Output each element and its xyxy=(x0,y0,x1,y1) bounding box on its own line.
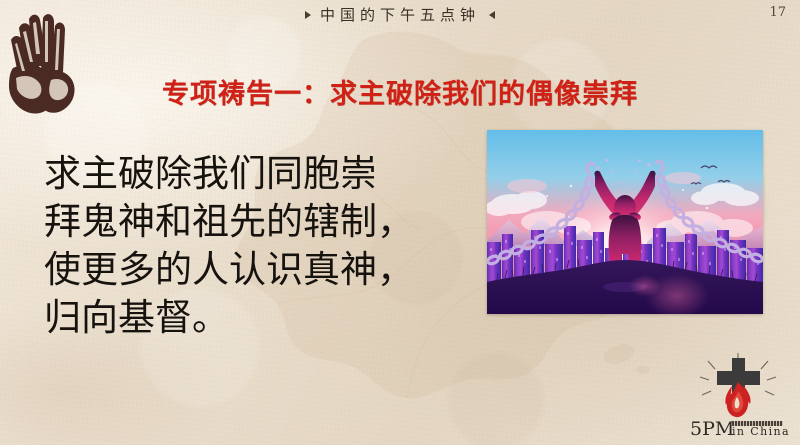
triangle-right-marker-icon xyxy=(305,11,311,19)
body-line: 拜鬼神和祖先的辖制， xyxy=(44,198,464,246)
slide-header: 中国的下午五点钟 xyxy=(0,4,800,25)
logo-primary-text: 5PM xyxy=(690,418,734,439)
body-line: 求主破除我们同胞崇 xyxy=(44,150,464,198)
logo-secondary-text: in China xyxy=(732,425,790,438)
man-breaking-chains-illustration xyxy=(487,130,763,314)
5pm-in-china-logo: 5PM in China xyxy=(688,351,792,439)
triangle-left-marker-icon xyxy=(489,11,495,19)
body-text: 求主破除我们同胞崇 拜鬼神和祖先的辖制， 使更多的人认识真神， 归向基督。 xyxy=(44,150,464,342)
page-title: 专项祷告一：求主破除我们的偶像崇拜 xyxy=(0,72,800,111)
header-title: 中国的下午五点钟 xyxy=(320,4,480,25)
slide-canvas: 中国的下午五点钟 17 专项祷告一：求主破除我们的偶像崇拜 求主破除我们同胞崇 … xyxy=(0,0,800,445)
page-number: 17 xyxy=(769,5,786,20)
body-line: 使更多的人认识真神， xyxy=(44,246,464,294)
body-line: 归向基督。 xyxy=(44,294,464,342)
